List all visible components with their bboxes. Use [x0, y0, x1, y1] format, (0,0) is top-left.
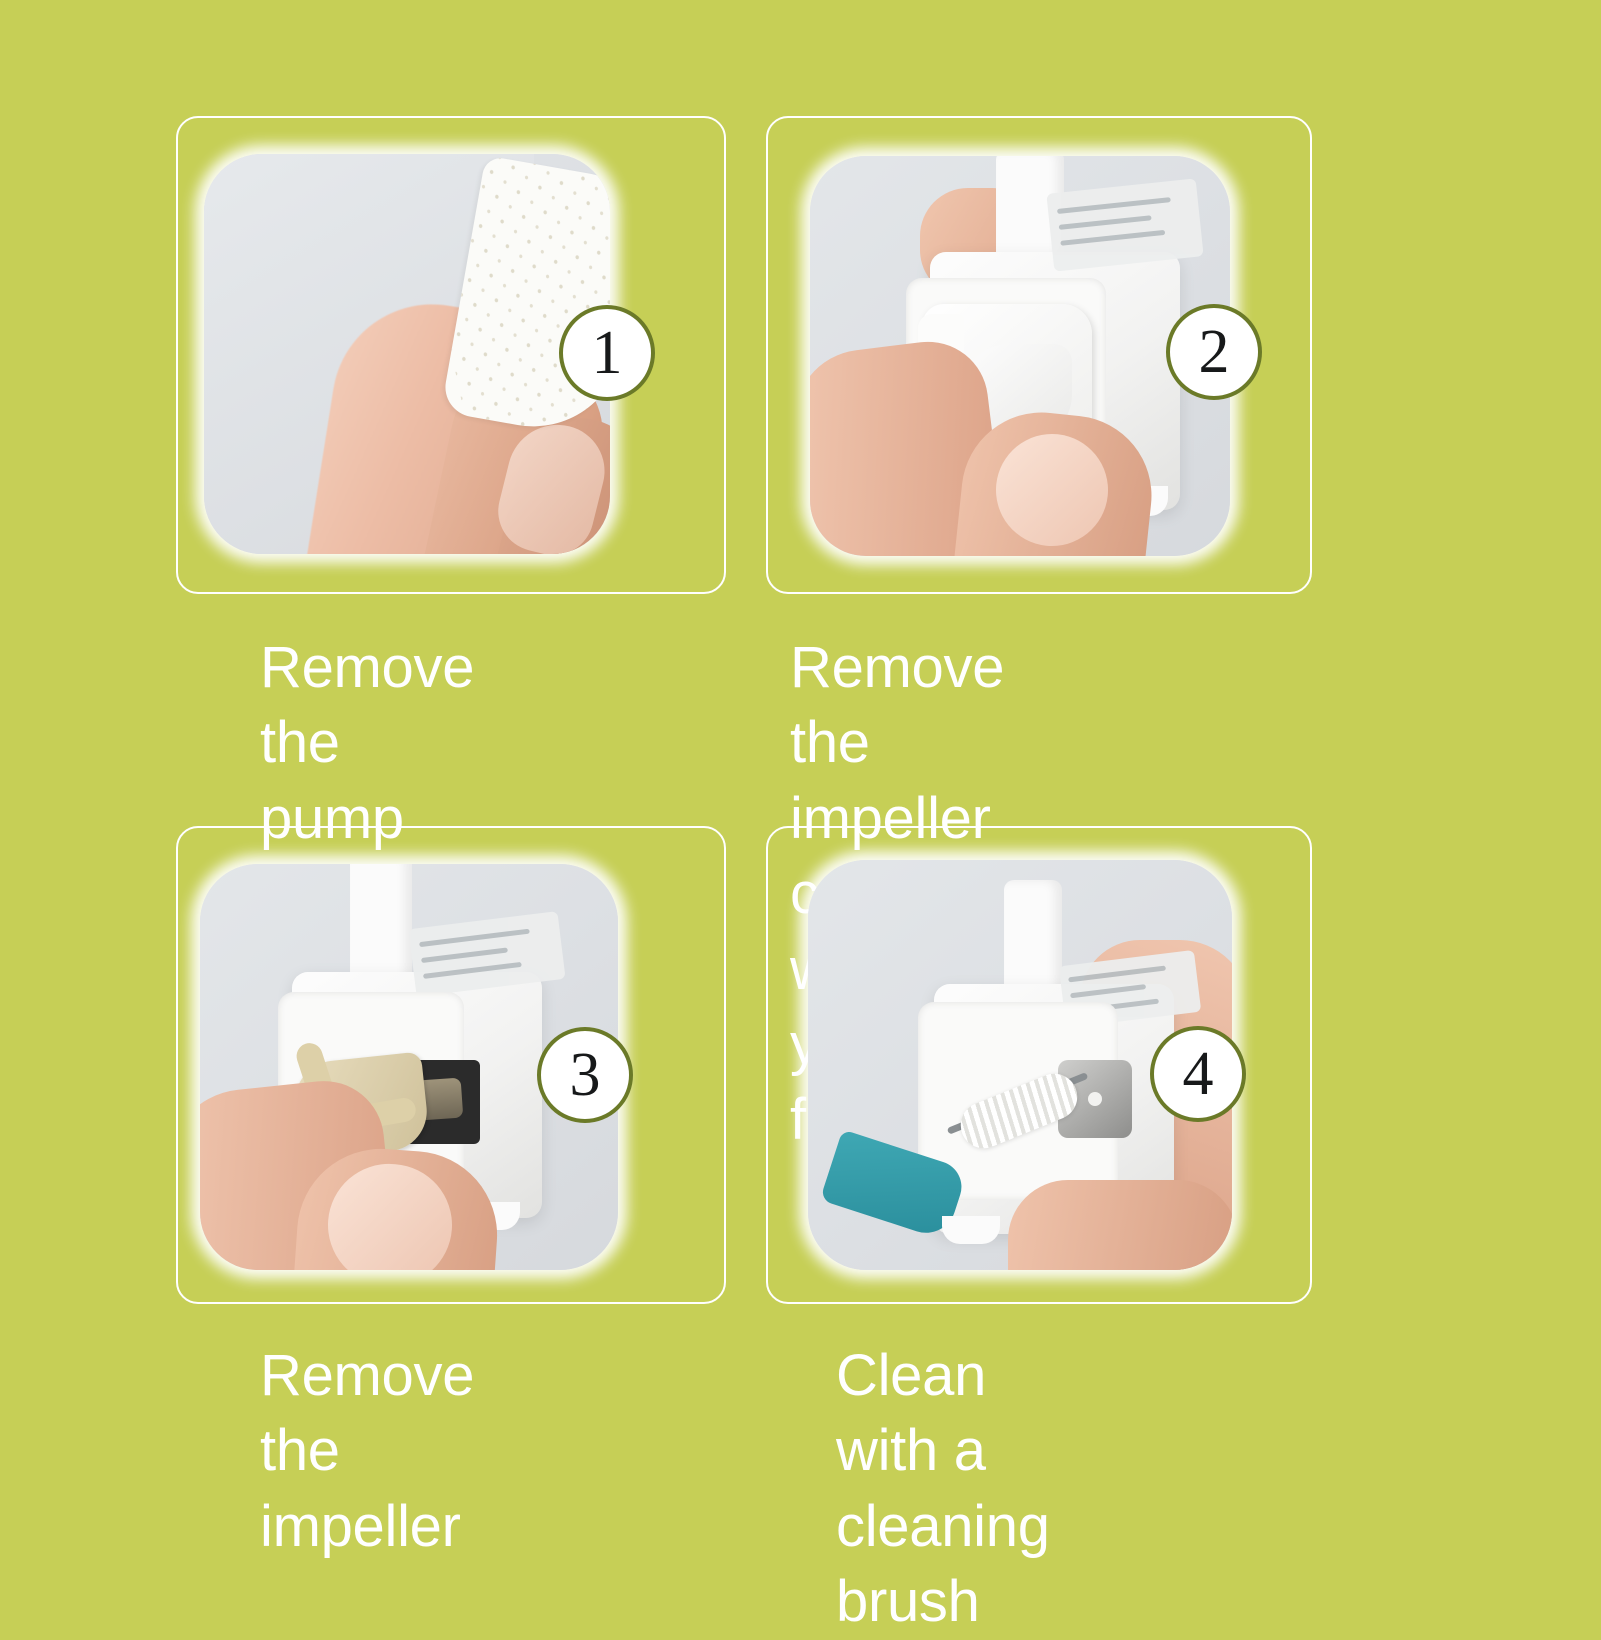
step-number-badge-4: 4	[1150, 1026, 1246, 1122]
step-photo-1	[204, 154, 610, 554]
suction-foot	[942, 1216, 1000, 1244]
instruction-steps-grid: 1 Remove the pump cover 2 Remove the imp…	[0, 0, 1601, 1601]
pump-spec-label	[1046, 178, 1203, 271]
step-number-badge-2: 2	[1166, 304, 1262, 400]
step-caption-4: Clean with a cleaning brush	[836, 1338, 1050, 1640]
step-number-badge-1: 1	[559, 305, 655, 401]
step-caption-3: Remove the impeller	[260, 1338, 474, 1564]
rotor-hole	[1088, 1092, 1102, 1106]
step-number-badge-3: 3	[537, 1027, 633, 1123]
hand-icon	[1008, 1180, 1232, 1270]
